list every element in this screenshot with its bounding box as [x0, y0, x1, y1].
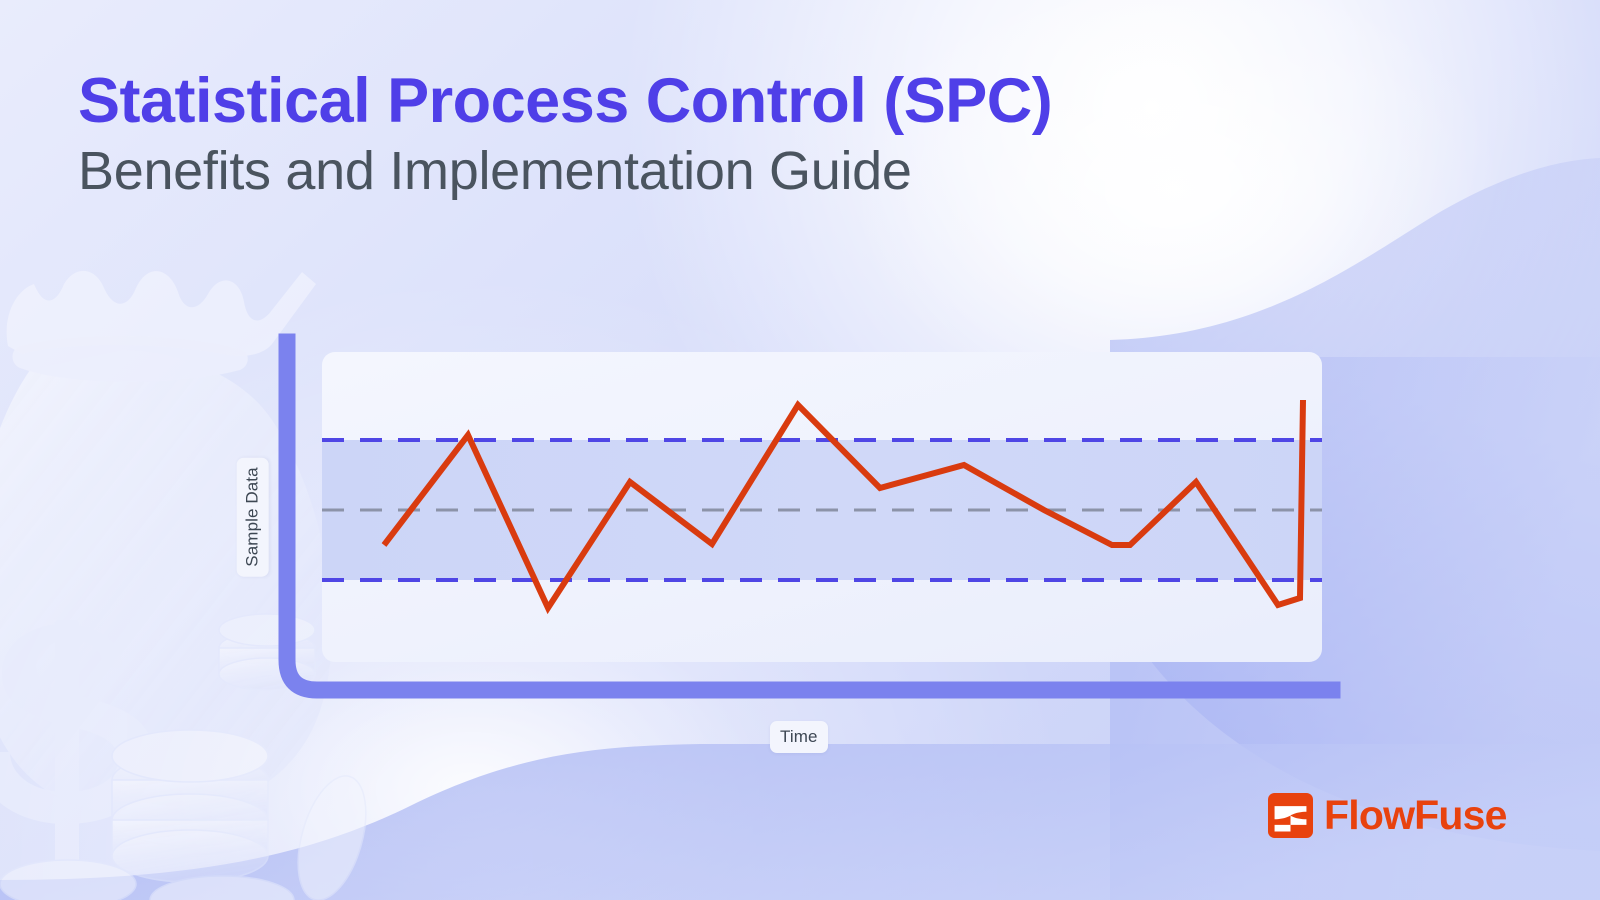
- spc-banner: Statistical Process Control (SPC) Benefi…: [0, 0, 1600, 900]
- page-title: Statistical Process Control (SPC): [78, 66, 1308, 137]
- flowfuse-logo: FlowFuse: [1268, 793, 1507, 838]
- x-axis-label: Time: [770, 721, 828, 753]
- y-axis-label-wrap: Sample Data: [236, 432, 270, 602]
- flowfuse-logo-icon: [1268, 793, 1313, 838]
- flowfuse-wordmark: FlowFuse: [1324, 795, 1507, 836]
- spc-control-chart: [228, 330, 1348, 750]
- y-axis-label: Sample Data: [237, 457, 269, 576]
- headline-block: Statistical Process Control (SPC) Benefi…: [78, 66, 1308, 201]
- page-subtitle: Benefits and Implementation Guide: [78, 141, 1308, 201]
